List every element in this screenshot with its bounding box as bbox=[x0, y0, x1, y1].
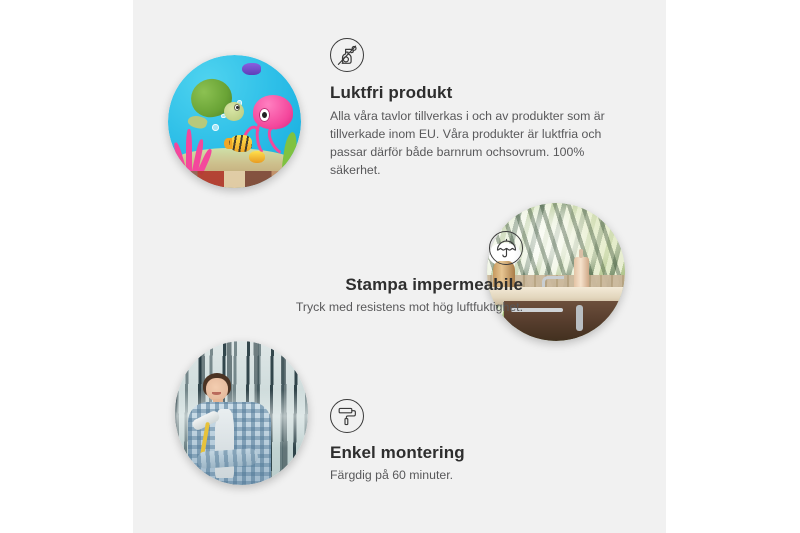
pink-coral bbox=[176, 129, 213, 174]
feature-block-easy-mounting: Enkel montering Färgdig på 60 minuter. bbox=[330, 399, 630, 485]
striped-yellow-fish bbox=[229, 135, 252, 152]
feature-block-odourless: Luktfri produkt Alla våra tavlor tillver… bbox=[330, 38, 630, 180]
feature-title: Enkel montering bbox=[330, 443, 630, 463]
foreground-strip bbox=[168, 171, 301, 188]
feature-description: Färgdig på 60 minuter. bbox=[330, 467, 630, 485]
feature-panel: Luktfri produkt Alla våra tavlor tillver… bbox=[133, 0, 666, 533]
feature-title: Luktfri produkt bbox=[330, 83, 630, 103]
umbrella-icon bbox=[489, 231, 523, 265]
paint-roller-icon bbox=[330, 399, 364, 433]
coral-branch bbox=[186, 129, 192, 174]
woman-figure bbox=[188, 373, 270, 485]
soap-dispenser bbox=[574, 257, 589, 292]
no-odour-spray-bottle-icon bbox=[330, 38, 364, 72]
small-yellow-fish bbox=[249, 151, 265, 163]
feature-description: Tryck med resistens mot hög luftfuktighe… bbox=[193, 299, 523, 317]
face bbox=[206, 378, 227, 400]
purple-fish bbox=[242, 63, 261, 75]
feature-title: Stampa impermeabile bbox=[193, 275, 523, 295]
woman-with-paint-roller-photo bbox=[175, 341, 308, 485]
sea-turtle bbox=[187, 76, 246, 129]
underwater-cartoon-scene-photo bbox=[168, 55, 301, 188]
feature-description: Alla våra tavlor tillverkas i och av pro… bbox=[330, 108, 630, 180]
feature-block-waterproof: Stampa impermeabile Tryck med resistens … bbox=[193, 231, 523, 317]
infographic-canvas: Luktfri produkt Alla våra tavlor tillver… bbox=[0, 0, 800, 533]
